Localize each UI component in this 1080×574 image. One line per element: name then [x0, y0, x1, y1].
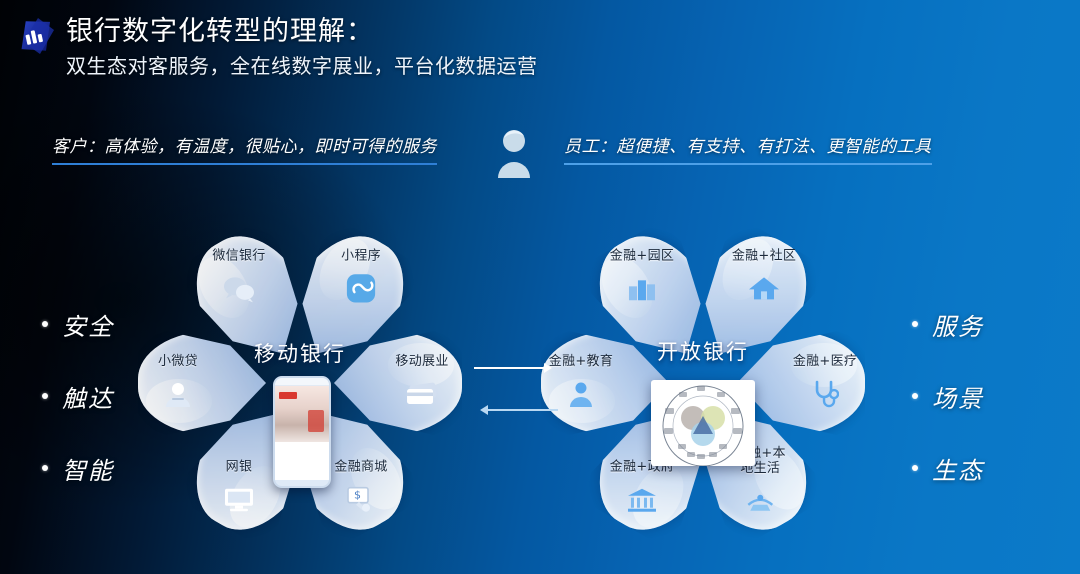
cluster-connectors [470, 358, 562, 420]
open-bank-cluster: 金融+园区 金融+社区 [538, 228, 868, 538]
petal-shape [138, 331, 266, 435]
right-keyword-0: 服务 [932, 307, 984, 342]
left-keyword-1: 触达 [62, 379, 114, 414]
ecosystem-venn-chart [651, 380, 755, 466]
left-keyword-list: 安全 触达 智能 [42, 288, 114, 504]
slide-canvas: 银行数字化转型的理解： 双生态对客服务，全在线数字展业，平台化数据运营 客户：高… [0, 0, 1080, 574]
list-item: 安全 [42, 288, 114, 360]
bullet-dot-icon [42, 393, 48, 399]
bullet-dot-icon [912, 393, 918, 399]
petal-gloss [310, 230, 381, 309]
title-block: 银行数字化转型的理解： 双生态对客服务，全在线数字展业，平台化数据运营 [66, 16, 538, 78]
petal-gloss [622, 457, 693, 536]
customer-persona-text: 客户：高体验，有温度，很贴心，即时可得的服务 [52, 132, 437, 165]
petal-micro-loan[interactable]: 小微贷 [138, 331, 266, 435]
customer-persona: 客户：高体验，有温度，很贴心，即时可得的服务 [52, 132, 437, 165]
phone-hero-banner [275, 386, 329, 442]
petal-gloss [791, 343, 858, 387]
petal-gloss [189, 247, 260, 326]
bullet-dot-icon [42, 321, 48, 327]
petal-gloss [146, 379, 213, 423]
phone-content-area [275, 442, 329, 480]
bullet-dot-icon [912, 321, 918, 327]
mobile-bank-cluster: 微信银行 小程序 [135, 228, 465, 538]
left-keyword-0: 安全 [62, 307, 114, 342]
list-item: 智能 [42, 432, 114, 504]
phone-mockup [273, 376, 331, 488]
right-keyword-1: 场景 [932, 379, 984, 414]
list-item: 生态 [912, 432, 984, 504]
page-title: 银行数字化转型的理解： [66, 16, 538, 47]
brand-diamond-logo-icon [14, 16, 58, 58]
petal-gloss [388, 343, 455, 387]
employee-persona: 员工：超便捷、有支持、有打法、更智能的工具 [564, 132, 932, 165]
list-item: 场景 [912, 360, 984, 432]
employee-persona-text: 员工：超便捷、有支持、有打法、更智能的工具 [564, 132, 932, 165]
open-bank-center-label: 开放银行 [657, 336, 749, 366]
page-subtitle: 双生态对客服务，全在线数字展业，平台化数据运营 [66, 54, 538, 78]
person-avatar-icon [492, 126, 536, 178]
petal-gloss [592, 247, 663, 326]
phone-status-bar [275, 378, 329, 386]
bullet-dot-icon [912, 465, 918, 471]
left-keyword-2: 智能 [62, 451, 114, 486]
list-item: 服务 [912, 288, 984, 360]
right-keyword-list: 服务 场景 生态 [912, 288, 984, 504]
list-item: 触达 [42, 360, 114, 432]
petal-gloss [713, 230, 784, 309]
petal-gloss [340, 439, 411, 518]
right-keyword-2: 生态 [932, 451, 984, 486]
mobile-bank-center-label: 移动银行 [254, 338, 346, 368]
bullet-dot-icon [42, 465, 48, 471]
